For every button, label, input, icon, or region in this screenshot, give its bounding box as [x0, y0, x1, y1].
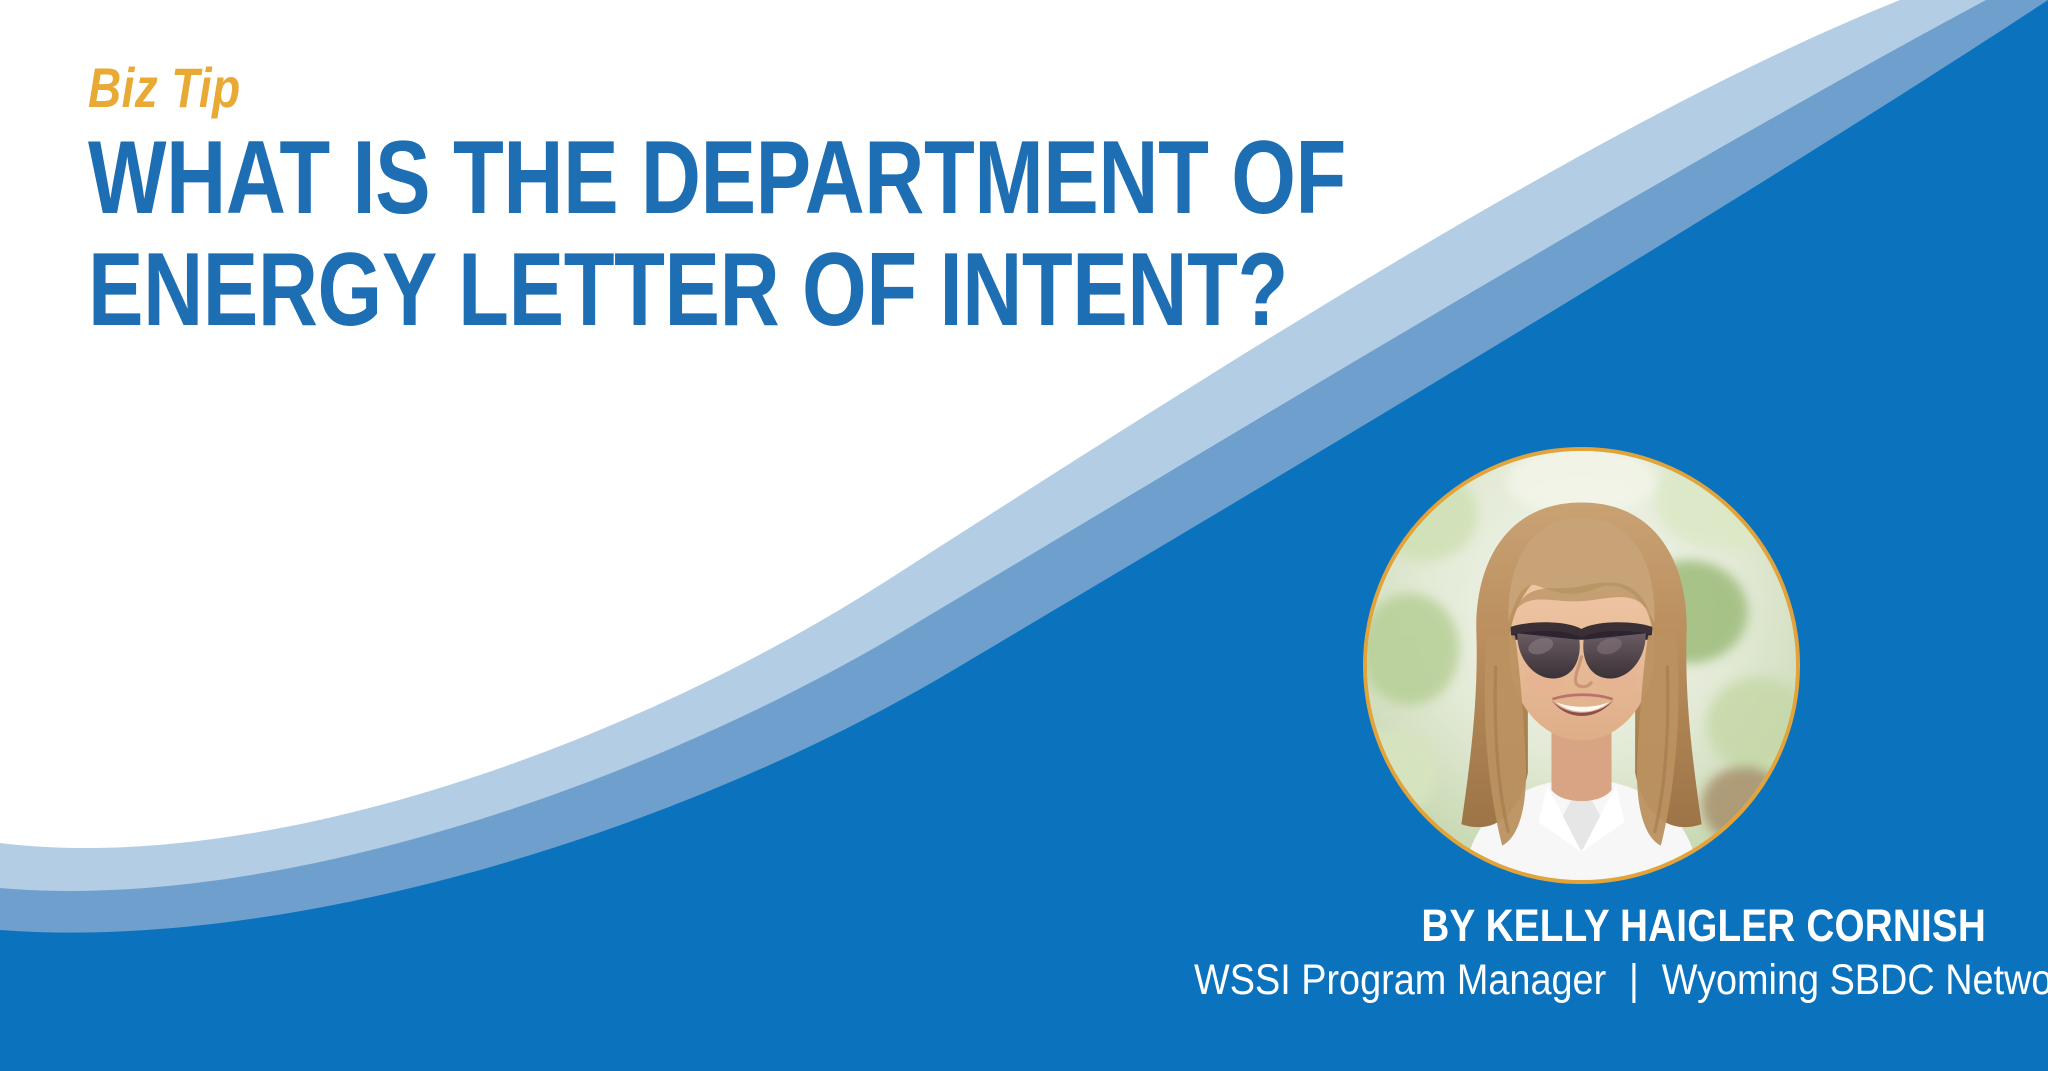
byline-organization: Wyoming SBDC Network — [1662, 956, 2048, 1004]
byline-role-title: WSSI Program Manager — [1194, 956, 1606, 1004]
page-title: WHAT IS THE DEPARTMENT OF ENERGY LETTER … — [88, 122, 1088, 347]
avatar — [1363, 447, 1800, 884]
byline-separator: | — [1617, 956, 1651, 1004]
byline-role-line: WSSI Program Manager | Wyoming SBDC Netw… — [1194, 957, 1986, 1004]
portrait-photo — [1367, 451, 1796, 880]
eyebrow-label: Biz Tip — [88, 60, 1113, 116]
page-title-line-1: WHAT IS THE DEPARTMENT OF — [88, 122, 1088, 234]
headline-block: Biz Tip WHAT IS THE DEPARTMENT OF ENERGY… — [88, 60, 1338, 347]
byline-block: BY KELLY HAIGLER CORNISH WSSI Program Ma… — [1086, 902, 1986, 1005]
biz-tip-social-graphic: Biz Tip WHAT IS THE DEPARTMENT OF ENERGY… — [0, 0, 2048, 1071]
byline-author: BY KELLY HAIGLER CORNISH — [1212, 902, 1986, 949]
page-title-line-2: ENERGY LETTER OF INTENT? — [88, 234, 1088, 346]
